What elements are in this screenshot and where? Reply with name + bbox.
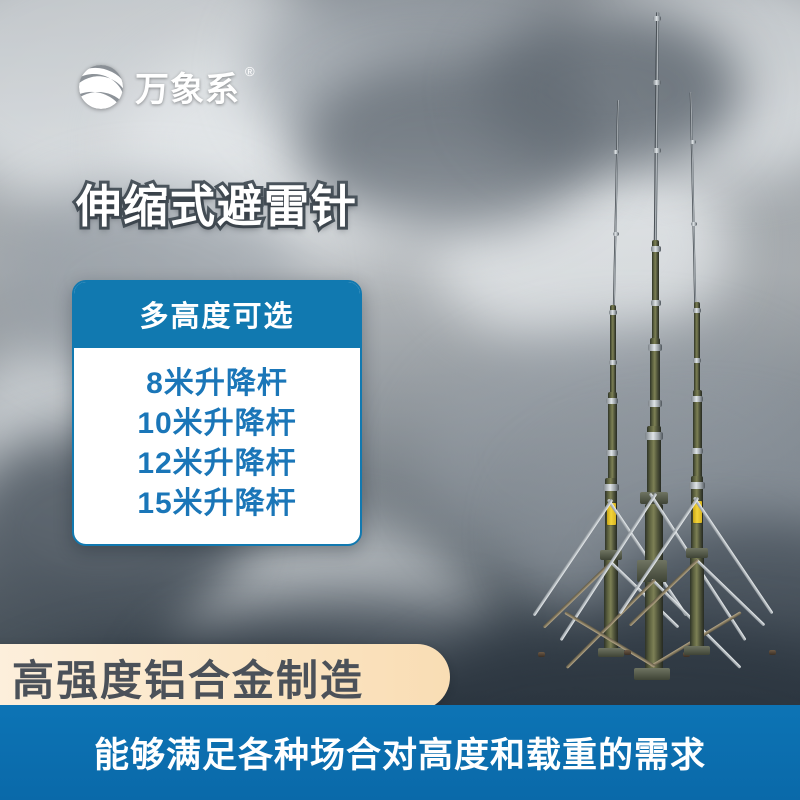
mast-collar [609,310,617,315]
mast-segment [650,338,660,428]
mast-whip-section [613,100,619,310]
mast-collar [606,398,618,404]
material-highlight-banner: 高强度铝合金制造 [0,644,450,710]
mast-segment [608,392,617,482]
tripod-foot [624,650,631,655]
spec-card: 多高度可选 8米升降杆 10米升降杆 12米升降杆 15米升降杆 [72,280,362,546]
mast-base-plate [598,648,624,657]
tagline-bar: 能够满足各种场合对高度和载重的需求 [0,705,800,800]
mast-whip-section [654,12,659,242]
mast-collar [691,396,703,402]
mast-collar [606,450,618,456]
material-highlight-text: 高强度铝合金制造 [12,647,364,708]
swirl-sphere-logo-icon [78,64,124,110]
mast-collar [645,432,663,440]
brand-name: 万象系 [135,62,240,111]
mast-segment [610,305,616,395]
mast-segment [652,240,659,340]
spec-card-header-title: 多高度可选 [74,293,360,335]
mast-collar [651,246,661,252]
brand-logo: 万象系 ® [78,62,255,111]
mast-collar [693,308,701,313]
mast-collar [691,448,703,454]
tagline-text: 能够满足各种场合对高度和载重的需求 [94,727,706,778]
mast-collar [613,232,619,236]
mast-collar [651,300,661,306]
mast-collar [609,360,617,365]
mast-collar [648,400,662,407]
registered-trademark-icon: ® [245,64,255,79]
mast-collar [603,484,619,491]
mast-collar [648,344,662,351]
mast-segment [693,390,702,480]
page-title: 伸缩式避雷针 [76,170,358,235]
mast-collar [613,150,619,154]
mast-segment [694,302,700,394]
list-item: 10米升降杆 [74,404,360,444]
mast-collar [691,222,697,226]
mast-hub [686,548,708,558]
tripod-foot [769,650,776,655]
mast-collar [653,80,661,85]
mast-collar [653,16,661,21]
list-item: 12米升降杆 [74,444,360,484]
product-banner-stage: 万象系 ® 伸缩式避雷针 多高度可选 8米升降杆 10米升降杆 12米升降杆 1… [0,0,800,800]
tripod-foot [538,652,545,657]
mast-collar [689,482,705,489]
mast-collar [693,358,701,363]
mast-collar [690,140,696,144]
mast-collar [653,148,661,153]
mast-base-plate [684,646,710,655]
spec-card-header: 多高度可选 [74,282,360,348]
spec-card-body: 8米升降杆 10米升降杆 12米升降杆 15米升降杆 [74,348,360,544]
mast-base-segment [690,554,704,654]
mast-base-plate [634,668,670,680]
mast-whip-section [690,92,697,307]
list-item: 8米升降杆 [74,364,360,404]
list-item: 15米升降杆 [74,484,360,524]
